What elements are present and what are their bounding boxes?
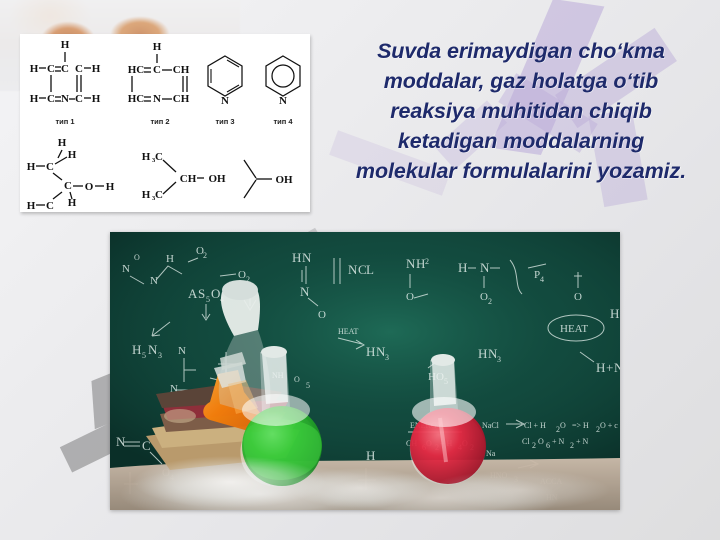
svg-text:O: O [238, 269, 246, 281]
svg-text:Cl + H: Cl + H [524, 421, 546, 430]
svg-text:C: C [46, 200, 54, 212]
structure-label: тип 1 [55, 117, 74, 126]
svg-text:H: H [106, 181, 115, 193]
svg-text:OH: OH [275, 174, 293, 186]
svg-text:H: H [92, 63, 101, 75]
svg-text:O: O [574, 291, 582, 303]
svg-text:NaCl: NaCl [482, 421, 500, 430]
svg-text:N: N [302, 250, 312, 265]
svg-text:H: H [68, 149, 77, 161]
structure-label: тип 2 [150, 117, 169, 126]
structure-label: тип 3 [215, 117, 234, 126]
svg-text:HEAT: HEAT [560, 323, 588, 335]
svg-text:O: O [85, 181, 94, 193]
svg-text:+ N: + N [576, 437, 589, 446]
svg-text:C: C [47, 93, 55, 105]
svg-text:H: H [132, 342, 141, 357]
svg-text:N: N [150, 275, 158, 287]
svg-text:O + c: O + c [600, 421, 618, 430]
svg-text:5: 5 [306, 381, 310, 390]
svg-text:C: C [64, 180, 72, 192]
svg-text:N: N [153, 93, 161, 105]
svg-text:N: N [221, 95, 229, 107]
svg-text:N: N [178, 345, 186, 357]
svg-text:S: S [198, 286, 205, 301]
structure-label: тип 4 [273, 117, 293, 126]
svg-text:Cl: Cl [522, 437, 530, 446]
svg-text:N: N [122, 263, 130, 275]
vapor-cloud [430, 470, 610, 510]
svg-text:2: 2 [488, 297, 492, 306]
svg-text:O: O [480, 291, 488, 303]
svg-text:O: O [406, 291, 414, 303]
svg-text:C: C [46, 161, 54, 173]
laboratory-photo: N O N H O 2 A S 5 O 4 H 5 N 3 N [110, 232, 620, 510]
svg-text:3: 3 [497, 355, 501, 364]
svg-text:CH: CH [173, 64, 190, 76]
svg-text:5: 5 [142, 351, 146, 360]
svg-text:H: H [458, 260, 467, 275]
svg-text:C: C [47, 63, 55, 75]
svg-text:N: N [348, 262, 358, 277]
svg-text:CH: CH [173, 93, 190, 105]
svg-text:H: H [478, 346, 487, 361]
svg-text:H: H [366, 344, 375, 359]
svg-text:C: C [155, 151, 163, 163]
heading-line: ketadigan moddalarning [326, 126, 716, 156]
svg-text:N: N [300, 284, 310, 299]
svg-text:N: N [480, 260, 490, 275]
svg-text:O: O [294, 375, 300, 384]
svg-text:N: N [406, 256, 416, 271]
svg-text:O: O [318, 309, 326, 321]
svg-text:H: H [596, 360, 605, 375]
structural-formula-image: H C H C H C C H C [20, 34, 310, 212]
svg-text:H: H [142, 189, 151, 201]
svg-text:O: O [134, 253, 140, 262]
heading-line: reaksiya muhitidan chiqib [326, 96, 716, 126]
structure-propanol-condensed: H 3 C H 3 C CH OH [142, 151, 226, 202]
svg-text:N: N [61, 93, 69, 105]
svg-text:2: 2 [532, 441, 536, 450]
svg-text:4: 4 [540, 275, 544, 284]
svg-text:H: H [153, 41, 162, 53]
svg-text:N: N [614, 360, 620, 375]
svg-text:2: 2 [570, 441, 574, 450]
svg-text:HC: HC [128, 64, 145, 76]
svg-text:H: H [30, 63, 39, 75]
svg-text:L: L [366, 262, 374, 277]
svg-text:H: H [610, 306, 619, 321]
structure-propanol-skeletal: OH [244, 160, 293, 198]
slide-canvas: H C H C H C C H C [0, 0, 720, 540]
svg-text:C: C [155, 189, 163, 201]
svg-text:3: 3 [158, 351, 162, 360]
svg-text:H: H [166, 253, 174, 265]
svg-text:H: H [416, 256, 425, 271]
svg-text:C: C [61, 63, 69, 75]
svg-text:6: 6 [546, 441, 550, 450]
svg-text:Na: Na [486, 449, 496, 458]
structure-propanol-full: H C H H C H O H C H [27, 137, 115, 212]
svg-text:H: H [27, 200, 36, 212]
svg-text:H: H [61, 39, 70, 51]
page-title: Suvda erimaydigan cho‘kma moddalar, gaz … [326, 36, 716, 186]
svg-text:N: N [279, 95, 287, 107]
svg-text:H: H [142, 151, 151, 163]
svg-text:3: 3 [385, 353, 389, 362]
svg-text:O: O [560, 421, 566, 430]
svg-text:CH: CH [180, 173, 197, 185]
structure-pyridine-aromatic: N тип 4 [266, 56, 300, 126]
vapor-cloud [290, 468, 430, 508]
svg-text:5: 5 [206, 295, 210, 304]
svg-text:O: O [538, 437, 544, 446]
heading-line: Suvda erimaydigan cho‘kma [326, 36, 716, 66]
structure-pyridine-condensed: H C HC CH HC N CH тип 2 [128, 41, 190, 126]
structure-pyridine-kekule: N тип 3 [208, 56, 242, 126]
svg-text:2: 2 [203, 251, 207, 260]
svg-text:H: H [30, 93, 39, 105]
svg-text:A: A [188, 286, 198, 301]
svg-text:N: N [148, 342, 158, 357]
svg-text:HC: HC [128, 93, 145, 105]
svg-text:C: C [75, 63, 83, 75]
svg-text:H: H [92, 93, 101, 105]
svg-text:H: H [292, 250, 301, 265]
svg-text:C: C [153, 64, 161, 76]
svg-text:+ N: + N [552, 437, 565, 446]
svg-text:HEAT: HEAT [338, 327, 359, 336]
svg-text:+: + [606, 360, 613, 375]
structure-pyridine-full: H C H C H C C H C [30, 39, 101, 126]
svg-text:C: C [75, 93, 83, 105]
svg-text:H: H [58, 137, 67, 149]
svg-text:2: 2 [425, 257, 429, 266]
svg-text:O: O [211, 286, 220, 301]
svg-text:=> H: => H [572, 421, 589, 430]
svg-text:H: H [27, 161, 36, 173]
heading-line: moddalar, gaz holatga o‘tib [326, 66, 716, 96]
svg-text:OH: OH [208, 173, 226, 185]
heading-line: molekular formulalarini yozamiz. [326, 156, 716, 186]
